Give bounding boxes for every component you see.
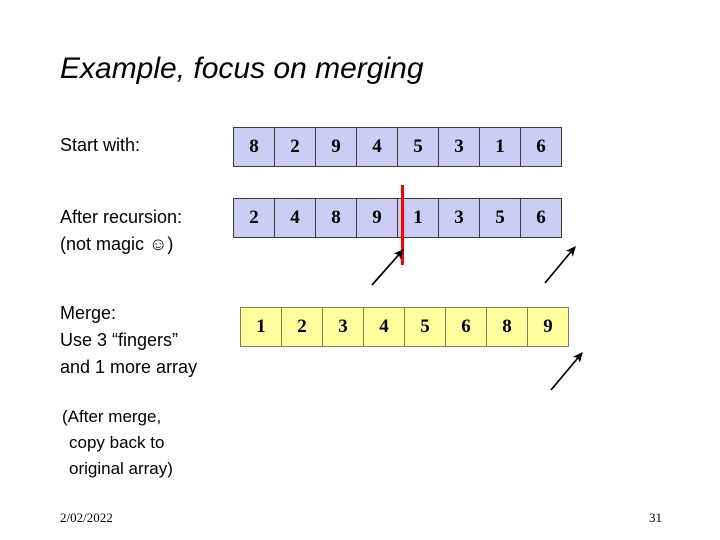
- label-copy-back-note: (After merge, copy back to original arra…: [62, 404, 173, 482]
- array-cell: 9: [315, 127, 357, 167]
- page-title: Example, focus on merging: [60, 52, 424, 86]
- array-cell: 5: [404, 307, 446, 347]
- label-merge-line3: and 1 more array: [60, 354, 197, 381]
- array-cell: 2: [274, 127, 316, 167]
- label-start-with: Start with:: [60, 132, 140, 159]
- array-cell: 6: [520, 198, 562, 238]
- label-copy-back-line3: original array): [62, 456, 173, 482]
- after-recursion-array: 2 4 8 9 1 3 5 6: [233, 198, 562, 238]
- array-cell: 6: [445, 307, 487, 347]
- array-cell: 4: [274, 198, 316, 238]
- finger-pointer-left-half-arrow-icon: [372, 250, 403, 285]
- array-cell: 2: [281, 307, 323, 347]
- array-cell: 8: [486, 307, 528, 347]
- array-cell: 8: [315, 198, 357, 238]
- start-array: 8 2 9 4 5 3 1 6: [233, 127, 562, 167]
- label-after-recursion: After recursion: (not magic ☺): [60, 204, 182, 258]
- finger-pointer-output-array-arrow-icon: [551, 353, 582, 390]
- label-merge-line2: Use 3 “fingers”: [60, 327, 197, 354]
- array-cell: 4: [363, 307, 405, 347]
- array-cell: 3: [322, 307, 364, 347]
- label-copy-back-line2: copy back to: [62, 430, 173, 456]
- array-cell: 6: [520, 127, 562, 167]
- finger-pointer-right-half-arrow-icon: [545, 247, 575, 283]
- array-cell: 1: [240, 307, 282, 347]
- array-cell: 2: [233, 198, 275, 238]
- array-cell: 5: [479, 198, 521, 238]
- array-cell: 9: [356, 198, 398, 238]
- array-cell: 5: [397, 127, 439, 167]
- label-copy-back-line1: (After merge,: [62, 404, 173, 430]
- array-cell: 3: [438, 127, 480, 167]
- array-cell: 4: [356, 127, 398, 167]
- split-marker-line: [401, 185, 404, 265]
- label-merge-line1: Merge:: [60, 300, 197, 327]
- footer-page-number: 31: [649, 510, 662, 526]
- array-cell: 8: [233, 127, 275, 167]
- label-start-with-line: Start with:: [60, 132, 140, 159]
- array-cell: 1: [479, 127, 521, 167]
- array-cell: 3: [438, 198, 480, 238]
- label-after-recursion-line1: After recursion:: [60, 204, 182, 231]
- merged-array: 1 2 3 4 5 6 8 9: [240, 307, 569, 347]
- label-after-recursion-line2: (not magic ☺): [60, 231, 182, 258]
- label-merge: Merge: Use 3 “fingers” and 1 more array: [60, 300, 197, 381]
- footer-date: 2/02/2022: [60, 510, 113, 526]
- array-cell: 9: [527, 307, 569, 347]
